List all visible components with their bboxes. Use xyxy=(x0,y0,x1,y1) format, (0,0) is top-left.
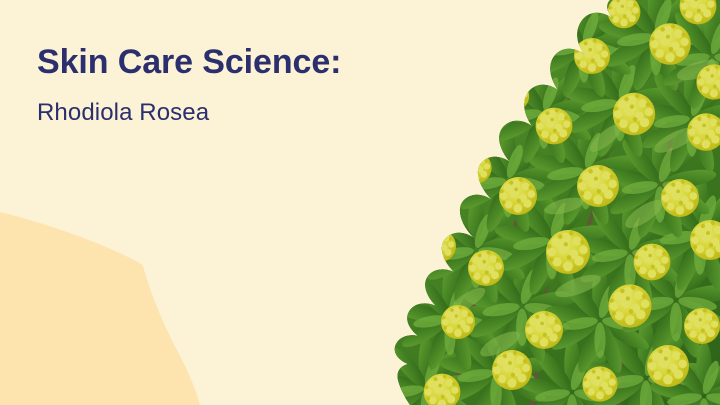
slide-title: Skin Care Science: xyxy=(37,40,377,84)
slide-subtitle: Rhodiola Rosea xyxy=(37,98,377,128)
slide-text-block: Skin Care Science: Rhodiola Rosea xyxy=(37,40,377,128)
presentation-slide: Skin Care Science: Rhodiola Rosea xyxy=(0,0,720,405)
